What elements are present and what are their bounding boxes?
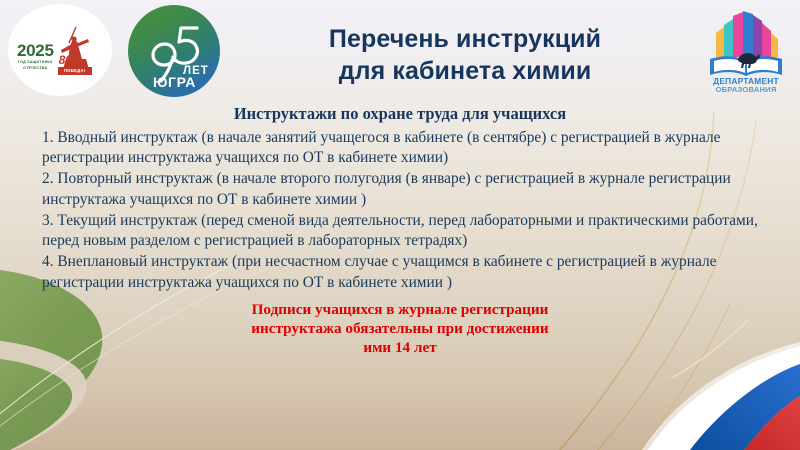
list-item: 3. Текущий инструктаж (перед сменой вида… <box>42 211 774 252</box>
page-title: Перечень инструкций для кабинета химии <box>230 23 700 87</box>
logo-2025-subtitle-line2: ОТЕЧЕСТВА <box>23 66 47 71</box>
logo-2025-anniversary-80: 80 <box>59 54 72 66</box>
logo-95-yugra-word: ЮГРА <box>153 74 196 90</box>
slide-canvas: 2025 ГОД ЗАЩИТНИКА ОТЕЧЕСТВА <box>0 0 800 450</box>
logo-dep-line2: ОБРАЗОВАНИЯ <box>716 85 777 93</box>
logo-departament-obrazovaniya: ДЕПАРТАМЕНТ ОБРАЗОВАНИЯ <box>700 3 792 95</box>
list-item: 2. Повторный инструктаж (в начале второг… <box>42 169 774 210</box>
note-line-2: инструктажа обязательны при достижении <box>0 319 800 338</box>
book-spines-icon <box>716 11 778 57</box>
logo-2025-year: 2025 <box>17 42 54 59</box>
logo-2025-subtitle-line1: ГОД ЗАЩИТНИКА <box>18 60 53 65</box>
logo-2025-text-block: 2025 ГОД ЗАЩИТНИКА ОТЕЧЕСТВА <box>17 42 54 71</box>
signature-requirement-note: Подписи учащихся в журнале регистрации и… <box>0 300 800 357</box>
list-item: 4. Внеплановый инструктаж (при несчастно… <box>42 252 774 293</box>
russian-flag-ribbon <box>642 342 800 450</box>
logo-2025-pobeda-text: ПОБЕДА! <box>58 67 92 75</box>
logo-2025-pobeda-bar: ПОБЕДА! <box>58 67 92 75</box>
page-title-line-2: для кабинета химии <box>230 55 700 87</box>
logo-2025-defender-of-fatherland: 2025 ГОД ЗАЩИТНИКА ОТЕЧЕСТВА <box>8 4 112 96</box>
logo-95-let-yugra: ЛЕТ ЮГРА <box>128 5 220 97</box>
note-line-3: ими 14 лет <box>0 338 800 357</box>
note-line-1: Подписи учащихся в журнале регистрации <box>0 300 800 319</box>
page-title-line-1: Перечень инструкций <box>230 23 700 55</box>
motherland-calls-statue-icon: 80 ПОБЕДА! <box>56 25 96 77</box>
instructions-list: 1. Вводный инструктаж (в начале занятий … <box>0 128 800 293</box>
content-body: Инструктажи по охране труда для учащихся… <box>0 104 800 358</box>
list-item: 1. Вводный инструктаж (в начале занятий … <box>42 128 774 169</box>
section-heading: Инструктажи по охране труда для учащихся <box>0 104 800 124</box>
